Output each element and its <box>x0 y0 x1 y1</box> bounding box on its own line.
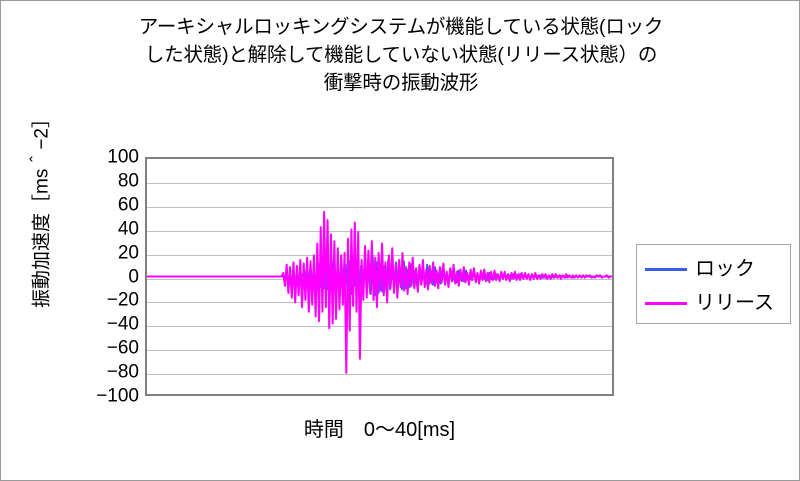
chart-title: アーキシャルロッキングシステムが機能している状態(ロック した状態)と解除して機… <box>61 13 741 97</box>
y-tick-label: −80 <box>67 363 139 382</box>
y-tick-label: 100 <box>67 148 139 167</box>
waveform-plot <box>147 159 612 394</box>
plot-area <box>145 157 614 396</box>
y-axis-title: 振動加速度［ms＾−2］ <box>27 94 54 324</box>
legend-color-swatch <box>645 302 687 305</box>
y-axis-tick-labels: 100806040200−20−40−60−80−100 <box>67 157 139 396</box>
chart-figure: アーキシャルロッキングシステムが機能している状態(ロック した状態)と解除して機… <box>0 0 800 481</box>
y-tick-label: −40 <box>67 315 139 334</box>
legend-label: ロック <box>695 259 755 279</box>
y-tick-label: 40 <box>67 219 139 238</box>
y-tick-label: −100 <box>67 387 139 406</box>
y-tick-label: 0 <box>67 267 139 286</box>
legend-color-swatch <box>645 268 687 271</box>
y-tick-label: 20 <box>67 243 139 262</box>
y-tick-label: −60 <box>67 339 139 358</box>
legend-label: リリース <box>695 293 774 313</box>
x-axis-title: 時間 0〜40[ms] <box>145 413 614 442</box>
y-tick-label: 80 <box>67 171 139 190</box>
chart-legend: ロックリリース <box>636 244 791 324</box>
y-tick-label: 60 <box>67 195 139 214</box>
y-tick-label: −20 <box>67 291 139 310</box>
legend-item[interactable]: リリース <box>645 291 774 315</box>
legend-item[interactable]: ロック <box>645 257 755 281</box>
